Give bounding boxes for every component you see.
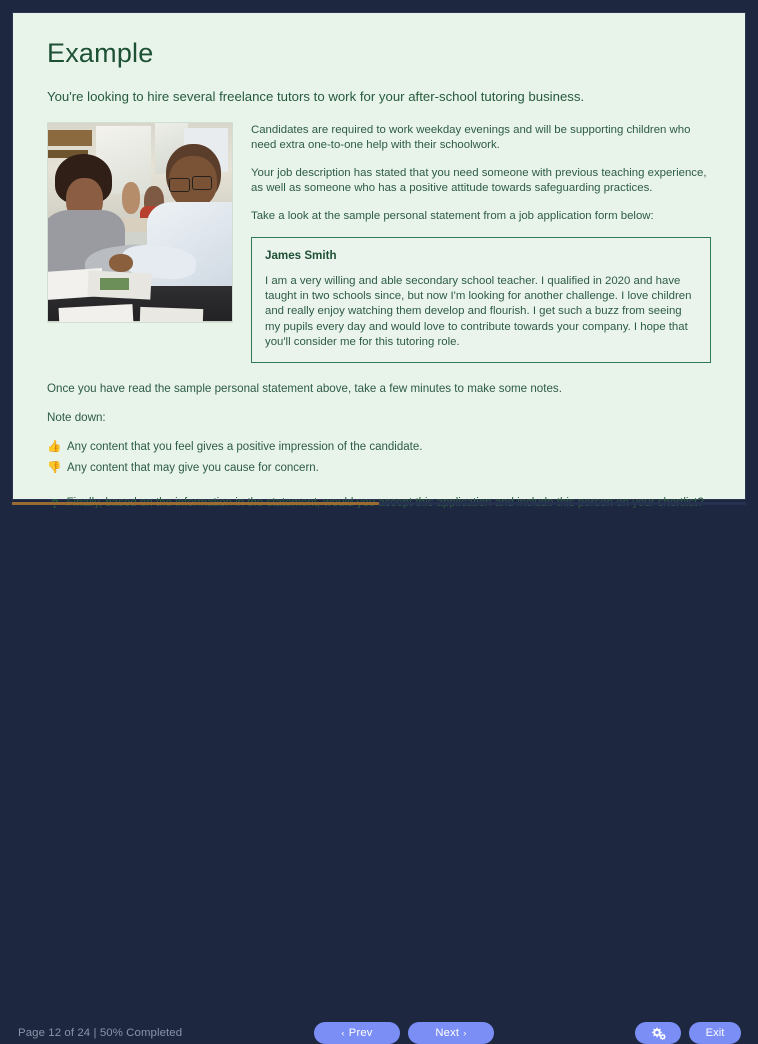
list-item-label: Any content that you feel gives a positi… [67,440,422,456]
chevron-right-icon: › [463,1028,466,1039]
photo-column [47,122,233,364]
list-item: 👍 Any content that you feel gives a posi… [47,440,711,456]
thumbs-down-icon: 👎 [47,461,60,477]
content-columns: Candidates are required to work weekday … [47,122,711,364]
chevron-left-icon: ‹ [341,1028,344,1039]
body-paragraph: Your job description has stated that you… [251,166,711,196]
thumbs-up-icon: 👍 [47,440,60,456]
notes-section: Once you have read the sample personal s… [47,381,711,512]
text-column: Candidates are required to work weekday … [233,122,711,364]
body-paragraph: Take a look at the sample personal state… [251,209,711,224]
footer-right-controls: Exit [635,1022,741,1044]
page-title: Example [47,39,711,69]
personal-statement-box: James Smith I am a very willing and able… [251,237,711,363]
list-item-label: Any content that may give you cause for … [67,461,319,477]
slide-subtitle: You're looking to hire several freelance… [47,88,711,106]
progress-bar-fill [12,502,379,505]
body-paragraph: Candidates are required to work weekday … [251,123,711,153]
navigation-buttons: ‹ Prev Next › [314,1022,494,1044]
prev-button[interactable]: ‹ Prev [314,1022,400,1044]
applicant-name: James Smith [265,249,697,262]
notes-intro: Once you have read the sample personal s… [47,381,711,396]
prev-button-label: Prev [349,1027,373,1039]
applicant-statement-text: I am a very willing and able secondary s… [265,274,697,350]
notes-label: Note down: [47,410,711,425]
course-player-frame: Example You're looking to hire several f… [0,0,758,560]
tutor-and-student-photo [47,122,233,323]
footer-bar: Page 12 of 24 | 50% Completed ‹ Prev Nex… [0,508,758,560]
page-status-text: Page 12 of 24 | 50% Completed [18,1027,182,1039]
gear-icon [651,1027,666,1040]
exit-button[interactable]: Exit [689,1022,741,1044]
slide-panel: Example You're looking to hire several f… [12,12,746,500]
progress-bar-track [12,502,746,505]
settings-button[interactable] [635,1022,681,1044]
list-item: 👎 Any content that may give you cause fo… [47,461,711,477]
next-button-label: Next [435,1027,459,1039]
next-button[interactable]: Next › [408,1022,494,1044]
